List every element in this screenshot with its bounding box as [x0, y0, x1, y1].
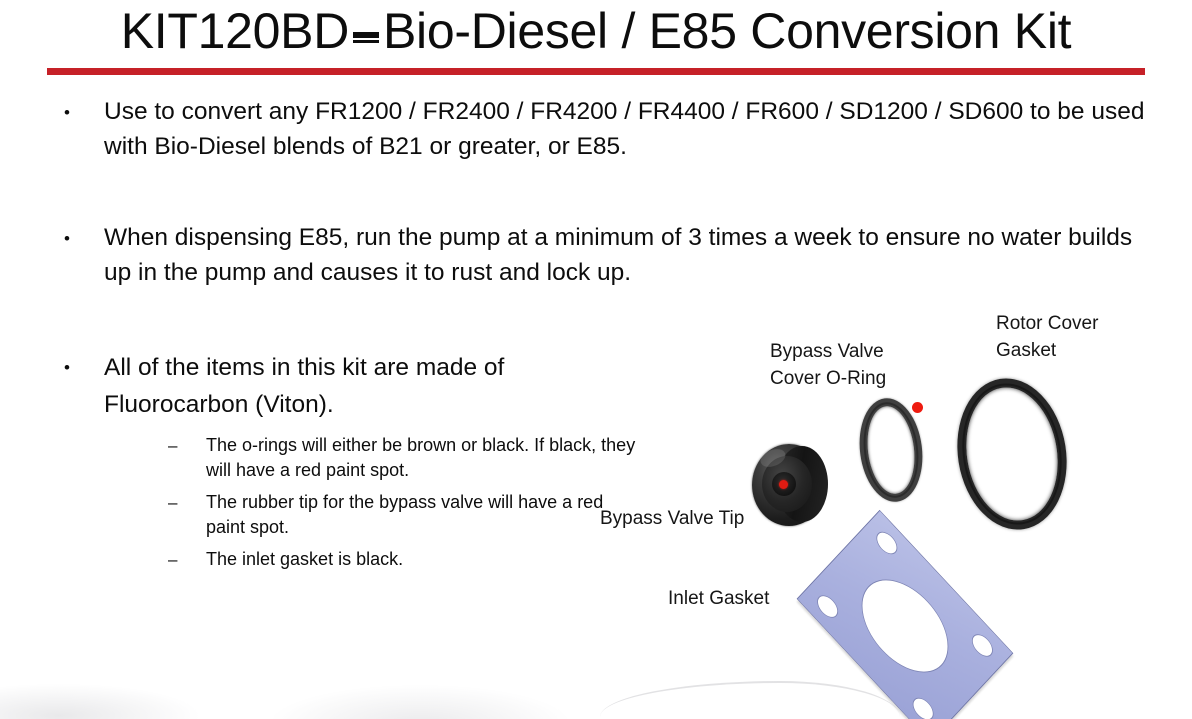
oring-shade [952, 376, 1071, 532]
title-divider-rule [47, 68, 1145, 75]
red-paint-spot-icon [912, 402, 923, 413]
part-bypass-valve-tip [748, 442, 836, 528]
label-line-1: Rotor Cover [996, 310, 1098, 337]
sub-bullet-text-2: The rubber tip for the bypass valve will… [206, 490, 638, 540]
sub-bullet-list: – The o-rings will either be brown or bl… [168, 433, 638, 573]
label-bypass-valve-tip: Bypass Valve Tip [600, 505, 744, 532]
label-line-1: Bypass Valve [770, 338, 886, 365]
bullet-text-1: Use to convert any FR1200 / FR2400 / FR4… [104, 94, 1162, 164]
inlet-gasket-bolt-hole [909, 694, 938, 719]
bullet-text-3: All of the items in this kit are made of… [104, 349, 624, 423]
part-inlet-gasket [755, 532, 1055, 719]
red-paint-spot-icon [779, 480, 788, 489]
label-rotor-cover-gasket: Rotor Cover Gasket [996, 310, 1098, 364]
label-line-2: Gasket [996, 337, 1098, 364]
sub-bullet-text-3: The inlet gasket is black. [206, 547, 638, 572]
bullet-marker-icon: • [52, 349, 104, 387]
sub-bullet-item-2: – The rubber tip for the bypass valve wi… [168, 490, 638, 540]
parts-diagram: Bypass Valve Cover O-Ring Rotor Cover Ga… [580, 300, 1192, 719]
inlet-gasket-bolt-hole [872, 528, 901, 559]
slide-canvas: KIT120BDBio-Diesel / E85 Conversion Kit … [0, 0, 1192, 719]
bullet-text-2: When dispensing E85, run the pump at a m… [104, 220, 1162, 290]
bullet-marker-icon: • [52, 220, 104, 258]
bullet-marker-icon: • [52, 94, 104, 132]
title-part-name: Bio-Diesel / E85 Conversion Kit [383, 3, 1071, 59]
sub-bullet-item-3: – The inlet gasket is black. [168, 547, 638, 573]
inlet-gasket-bolt-hole [968, 630, 997, 661]
sub-bullet-marker-icon: – [168, 547, 206, 573]
label-bypass-valve-cover-oring: Bypass Valve Cover O-Ring [770, 338, 886, 392]
sub-bullet-text-1: The o-rings will either be brown or blac… [206, 433, 638, 483]
oring-shade [858, 399, 923, 501]
label-line-2: Cover O-Ring [770, 365, 886, 392]
inlet-gasket-bolt-hole [813, 591, 842, 622]
page-title: KIT120BDBio-Diesel / E85 Conversion Kit [0, 2, 1192, 60]
part-rotor-cover-gasket [947, 370, 1077, 537]
sub-bullet-marker-icon: – [168, 433, 206, 459]
sub-bullet-marker-icon: – [168, 490, 206, 516]
sub-bullet-item-1: – The o-rings will either be brown or bl… [168, 433, 638, 483]
bullet-item-1: • Use to convert any FR1200 / FR2400 / F… [52, 94, 1162, 164]
background-artwork-left [0, 679, 220, 719]
inlet-gasket-center-hole [845, 562, 964, 690]
title-part-code: KIT120BD [121, 3, 349, 59]
bullet-item-2: • When dispensing E85, run the pump at a… [52, 220, 1162, 290]
title-separator-icon [351, 17, 381, 53]
inlet-gasket-plate [797, 510, 1014, 719]
background-artwork-center [255, 681, 585, 719]
title-block: KIT120BDBio-Diesel / E85 Conversion Kit [0, 2, 1192, 60]
